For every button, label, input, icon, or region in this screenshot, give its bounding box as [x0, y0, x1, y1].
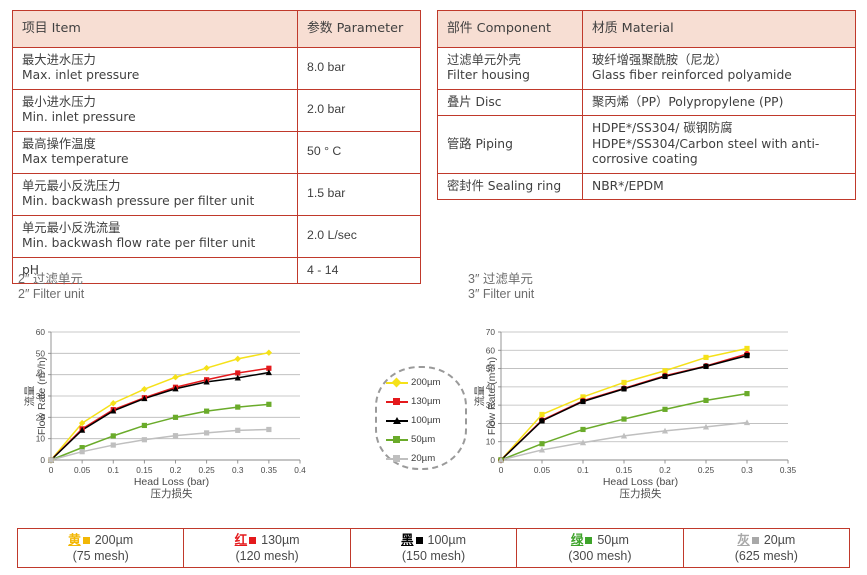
spec-item-en: Min. backwash flow rate per filter unit [22, 236, 255, 250]
material-value-cell: 聚丙烯（PP）Polypropylene (PP) [583, 89, 856, 116]
mesh-micron-label: 130µm [261, 532, 299, 548]
legend-symbol [386, 435, 408, 445]
legend-marker-diamond [392, 378, 402, 388]
legend-item: 50µm [377, 430, 465, 449]
data-point [621, 380, 626, 385]
data-point [539, 418, 544, 423]
data-point [662, 374, 667, 379]
spec-item-en: Min. inlet pressure [22, 110, 136, 124]
spec-value-cell: 50 ° C [298, 131, 421, 173]
svg-text:0.3: 0.3 [741, 465, 753, 475]
legend-marker-square [393, 436, 400, 443]
component-cn: 密封件 Sealing ring [447, 179, 561, 193]
legend-label: 20µm [411, 453, 435, 464]
legend-symbol [386, 378, 408, 388]
mesh-legend-cell: 绿50µm(300 mesh) [517, 529, 683, 567]
material-cn: HDPE*/SS304/ 碳钢防腐 [592, 121, 733, 135]
mesh-color-swatch [416, 537, 423, 544]
chart-2in-filter-unit: 2″ 过滤单元 2″ Filter unit 010203040506000.0… [18, 272, 363, 522]
svg-text:0: 0 [49, 465, 54, 475]
material-cn: 玻纤增强聚酰胺（尼龙） [592, 53, 727, 67]
mesh-legend-top: 红130µm [235, 532, 300, 548]
spec-value-cell: 8.0 bar [298, 47, 421, 89]
legend-marker-square [393, 398, 400, 405]
spec-header-cell: 参数 Parameter [298, 11, 421, 48]
data-point [204, 409, 209, 414]
spec-item-cn: 最小进水压力 [22, 95, 96, 109]
mesh-legend-top: 黄200µm [68, 532, 133, 548]
mesh-micron-label: 200µm [95, 532, 133, 548]
data-point [621, 416, 626, 421]
mesh-legend-top: 黑100µm [401, 532, 466, 548]
material-component-cell: 过滤单元外壳Filter housing [438, 47, 583, 89]
material-cn: 聚丙烯（PP）Polypropylene (PP) [592, 95, 783, 109]
data-point [621, 386, 626, 391]
spec-item-cell: 单元最小反洗流量Min. backwash flow rate per filt… [13, 215, 298, 257]
spec-item-cn: 最高操作温度 [22, 137, 96, 151]
component-cn: 管路 Piping [447, 137, 513, 151]
legend-symbol [386, 454, 408, 464]
legend-item: 20µm [377, 449, 465, 468]
table-row: 管路 PipingHDPE*/SS304/ 碳钢防腐HDPE*/SS304/Ca… [438, 116, 856, 174]
svg-text:0.25: 0.25 [698, 465, 715, 475]
spec-item-cn: 单元最小反洗流量 [22, 221, 120, 235]
legend-item: 130µm [377, 392, 465, 411]
x-axis-label-text: Head Loss (bar) 压力损失 [134, 476, 209, 500]
material-cn: NBR*/EPDM [592, 179, 664, 193]
mesh-count-label: (625 mesh) [735, 548, 798, 564]
material-en: HDPE*/SS304/Carbon steel with anti-corro… [592, 137, 819, 167]
table-row: 密封件 Sealing ringNBR*/EPDM [438, 173, 856, 200]
material-component-cell: 管路 Piping [438, 116, 583, 174]
mesh-color-swatch [249, 537, 256, 544]
svg-text:0: 0 [499, 465, 504, 475]
mesh-count-label: (150 mesh) [402, 548, 465, 564]
svg-text:0.2: 0.2 [659, 465, 671, 475]
spec-header-cell: 项目 Item [13, 11, 298, 48]
spec-item-cell: 最大进水压力Max. inlet pressure [13, 47, 298, 89]
mesh-micron-label: 20µm [764, 532, 796, 548]
legend-marker-square [393, 455, 400, 462]
data-point [744, 353, 749, 358]
material-en: Glass fiber reinforced polyamide [592, 68, 792, 82]
series-legend: 200µm130µm100µm50µm20µm [375, 366, 467, 470]
mesh-color-name: 灰 [737, 532, 750, 548]
table-row: 过滤单元外壳Filter housing玻纤增强聚酰胺（尼龙）Glass fib… [438, 47, 856, 89]
mesh-legend-cell: 灰20µm(625 mesh) [684, 529, 849, 567]
svg-text:0.1: 0.1 [577, 465, 589, 475]
mesh-legend-top: 绿50µm [571, 532, 629, 548]
svg-text:0.35: 0.35 [261, 465, 278, 475]
chart-2in-plot-area: 010203040506000.050.10.150.20.250.30.350… [18, 324, 308, 502]
material-value-cell: NBR*/EPDM [583, 173, 856, 200]
data-point [235, 404, 240, 409]
y-axis-label-cn: 流量 Flow Rate (m³/h) [474, 357, 498, 435]
spec-table: 项目 Item参数 Parameter最大进水压力Max. inlet pres… [12, 10, 421, 284]
chart-3in-x-axis-label: Head Loss (bar) 压力损失 [497, 476, 784, 500]
mesh-size-legend-strip: 黄200µm(75 mesh)红130µm(120 mesh)黑100µm(15… [17, 528, 850, 568]
data-point [539, 441, 544, 446]
spec-item-cn: 单元最小反洗压力 [22, 179, 120, 193]
table-row: 最大进水压力Max. inlet pressure8.0 bar [13, 47, 421, 89]
svg-text:0.4: 0.4 [294, 465, 306, 475]
legend-label: 100µm [411, 415, 441, 426]
data-point [142, 437, 147, 442]
svg-text:0.25: 0.25 [199, 465, 216, 475]
spec-value-cell: 2.0 L/sec [298, 215, 421, 257]
mesh-count-label: (300 mesh) [568, 548, 631, 564]
mesh-legend-cell: 黑100µm(150 mesh) [351, 529, 517, 567]
spec-item-en: Min. backwash pressure per filter unit [22, 194, 254, 208]
data-point [266, 427, 271, 432]
spec-item-cell: 最高操作温度Max temperature [13, 131, 298, 173]
data-point [744, 391, 749, 396]
data-point [703, 398, 708, 403]
svg-text:0.35: 0.35 [780, 465, 797, 475]
x-axis-label-text: Head Loss (bar) 压力损失 [603, 476, 678, 500]
material-value-cell: 玻纤增强聚酰胺（尼龙）Glass fiber reinforced polyam… [583, 47, 856, 89]
data-point [580, 399, 585, 404]
mesh-micron-label: 100µm [428, 532, 466, 548]
page-root: 项目 Item参数 Parameter最大进水压力Max. inlet pres… [0, 0, 867, 575]
mesh-color-name: 黄 [68, 532, 81, 548]
data-point [204, 430, 209, 435]
material-component-cell: 叠片 Disc [438, 89, 583, 116]
mesh-legend-cell: 黄200µm(75 mesh) [18, 529, 184, 567]
data-point [266, 402, 271, 407]
spec-item-en: Max temperature [22, 152, 129, 166]
chart-2in-y-axis-label: 流量 Flow Rate (m³/h) [24, 332, 48, 460]
chart-3in-title: 3″ 过滤单元 3″ Filter unit [468, 272, 850, 302]
spec-item-cell: 最小进水压力Min. inlet pressure [13, 89, 298, 131]
mesh-color-swatch [585, 537, 592, 544]
table-row: 单元最小反洗流量Min. backwash flow rate per filt… [13, 215, 421, 257]
component-cn: 过滤单元外壳 [447, 53, 521, 67]
data-point [80, 449, 85, 454]
svg-text:0.05: 0.05 [74, 465, 91, 475]
legend-label: 130µm [411, 396, 441, 407]
chart-2in-x-axis-label: Head Loss (bar) 压力损失 [47, 476, 296, 500]
svg-text:0.15: 0.15 [616, 465, 633, 475]
legend-label: 200µm [411, 377, 441, 388]
data-point [173, 433, 178, 438]
spec-item-cell: 单元最小反洗压力Min. backwash pressure per filte… [13, 173, 298, 215]
mesh-count-label: (75 mesh) [73, 548, 129, 564]
svg-text:0.05: 0.05 [534, 465, 551, 475]
data-point [142, 423, 147, 428]
svg-text:0.1: 0.1 [107, 465, 119, 475]
mesh-legend-cell: 红130µm(120 mesh) [184, 529, 350, 567]
table-row: 最小进水压力Min. inlet pressure2.0 bar [13, 89, 421, 131]
legend-item: 100µm [377, 411, 465, 430]
table-row: 叠片 Disc聚丙烯（PP）Polypropylene (PP) [438, 89, 856, 116]
svg-text:0.15: 0.15 [136, 465, 153, 475]
data-point [111, 442, 116, 447]
data-point [744, 346, 749, 351]
data-point [235, 428, 240, 433]
component-cn: 叠片 Disc [447, 95, 502, 109]
legend-label: 50µm [411, 434, 435, 445]
data-point [703, 364, 708, 369]
mesh-count-label: (120 mesh) [235, 548, 298, 564]
chart-3in-y-axis-label: 流量 Flow Rate (m³/h) [474, 332, 498, 460]
table-row: 最高操作温度Max temperature50 ° C [13, 131, 421, 173]
table-row: 单元最小反洗压力Min. backwash pressure per filte… [13, 173, 421, 215]
mesh-micron-label: 50µm [597, 532, 629, 548]
data-point [662, 368, 667, 373]
material-value-cell: HDPE*/SS304/ 碳钢防腐HDPE*/SS304/Carbon stee… [583, 116, 856, 174]
chart-2in-title: 2″ 过滤单元 2″ Filter unit [18, 272, 363, 302]
component-en: Filter housing [447, 68, 530, 82]
mesh-color-name: 绿 [571, 532, 584, 548]
material-table: 部件 Component材质 Material过滤单元外壳Filter hous… [437, 10, 856, 200]
svg-text:0.2: 0.2 [170, 465, 182, 475]
material-table-header-row: 部件 Component材质 Material [438, 11, 856, 48]
chart-3in-plot-area: 01020304050607000.050.10.150.20.250.30.3… [468, 324, 798, 502]
svg-text:0.3: 0.3 [232, 465, 244, 475]
spec-value-cell: 1.5 bar [298, 173, 421, 215]
spec-item-cn: 最大进水压力 [22, 53, 96, 67]
mesh-color-name: 红 [235, 532, 248, 548]
data-point [173, 415, 178, 420]
spec-item-en: Max. inlet pressure [22, 68, 139, 82]
mesh-color-swatch [752, 537, 759, 544]
legend-symbol [386, 397, 408, 407]
data-point [48, 457, 53, 462]
data-point [703, 355, 708, 360]
data-point [539, 412, 544, 417]
data-point [580, 427, 585, 432]
legend-symbol [386, 416, 408, 426]
mesh-color-name: 黑 [401, 532, 414, 548]
mesh-color-swatch [83, 537, 90, 544]
data-point [111, 433, 116, 438]
material-header-cell: 材质 Material [583, 11, 856, 48]
mesh-legend-top: 灰20µm [737, 532, 795, 548]
spec-table-header-row: 项目 Item参数 Parameter [13, 11, 421, 48]
material-component-cell: 密封件 Sealing ring [438, 173, 583, 200]
spec-value-cell: 2.0 bar [298, 89, 421, 131]
data-point [662, 407, 667, 412]
material-header-cell: 部件 Component [438, 11, 583, 48]
chart-3in-filter-unit: 3″ 过滤单元 3″ Filter unit 01020304050607000… [468, 272, 850, 522]
legend-marker-triangle [393, 417, 401, 424]
legend-item: 200µm [377, 373, 465, 392]
y-axis-label-cn: 流量 Flow Rate (m³/h) [24, 357, 48, 435]
